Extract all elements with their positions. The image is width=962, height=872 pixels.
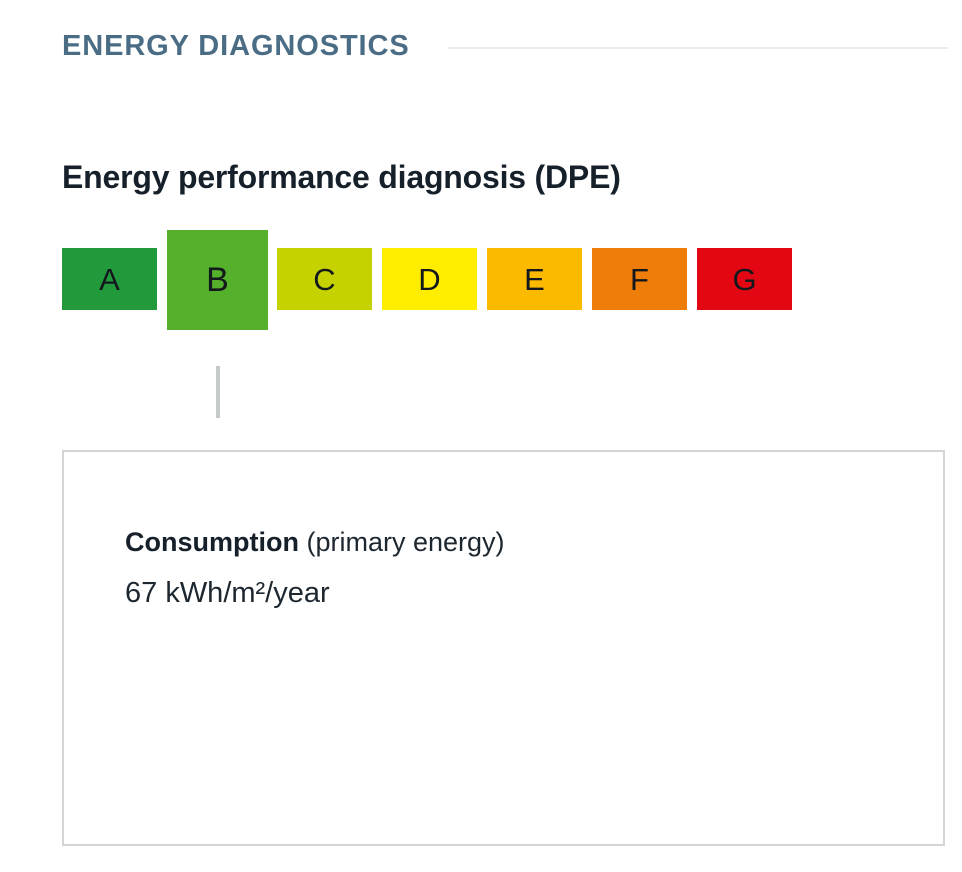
dpe-grade-c[interactable]: C xyxy=(277,248,372,310)
consumption-card-content: Consumption (primary energy) 67 kWh/m²/y… xyxy=(125,524,913,613)
dpe-grade-letter: G xyxy=(732,264,756,295)
dpe-grade-letter: A xyxy=(99,264,120,295)
dpe-grade-g[interactable]: G xyxy=(697,248,792,310)
consumption-label-note: (primary energy) xyxy=(307,527,505,557)
dpe-rating-scale: ABCDEFG xyxy=(62,230,802,334)
section-title: ENERGY DIAGNOSTICS xyxy=(62,32,410,61)
dpe-grade-f[interactable]: F xyxy=(592,248,687,310)
dpe-grade-letter: E xyxy=(524,264,545,295)
dpe-grade-b[interactable]: B xyxy=(167,230,268,330)
dpe-grade-letter: B xyxy=(206,263,229,297)
dpe-grade-a[interactable]: A xyxy=(62,248,157,310)
consumption-label-row: Consumption (primary energy) xyxy=(125,524,913,560)
consumption-value: 67 kWh/m²/year xyxy=(125,575,913,613)
section-header: ENERGY DIAGNOSTICS xyxy=(62,26,948,66)
dpe-grade-e[interactable]: E xyxy=(487,248,582,310)
dpe-grade-letter: F xyxy=(630,264,649,295)
consumption-card: Consumption (primary energy) 67 kWh/m²/y… xyxy=(62,450,945,846)
section-header-divider xyxy=(448,47,948,49)
dpe-active-grade-pointer xyxy=(216,366,220,418)
dpe-grade-letter: D xyxy=(418,264,440,295)
page-title: Energy performance diagnosis (DPE) xyxy=(62,157,621,197)
consumption-label: Consumption xyxy=(125,527,299,557)
dpe-grade-d[interactable]: D xyxy=(382,248,477,310)
dpe-grade-letter: C xyxy=(313,264,335,295)
